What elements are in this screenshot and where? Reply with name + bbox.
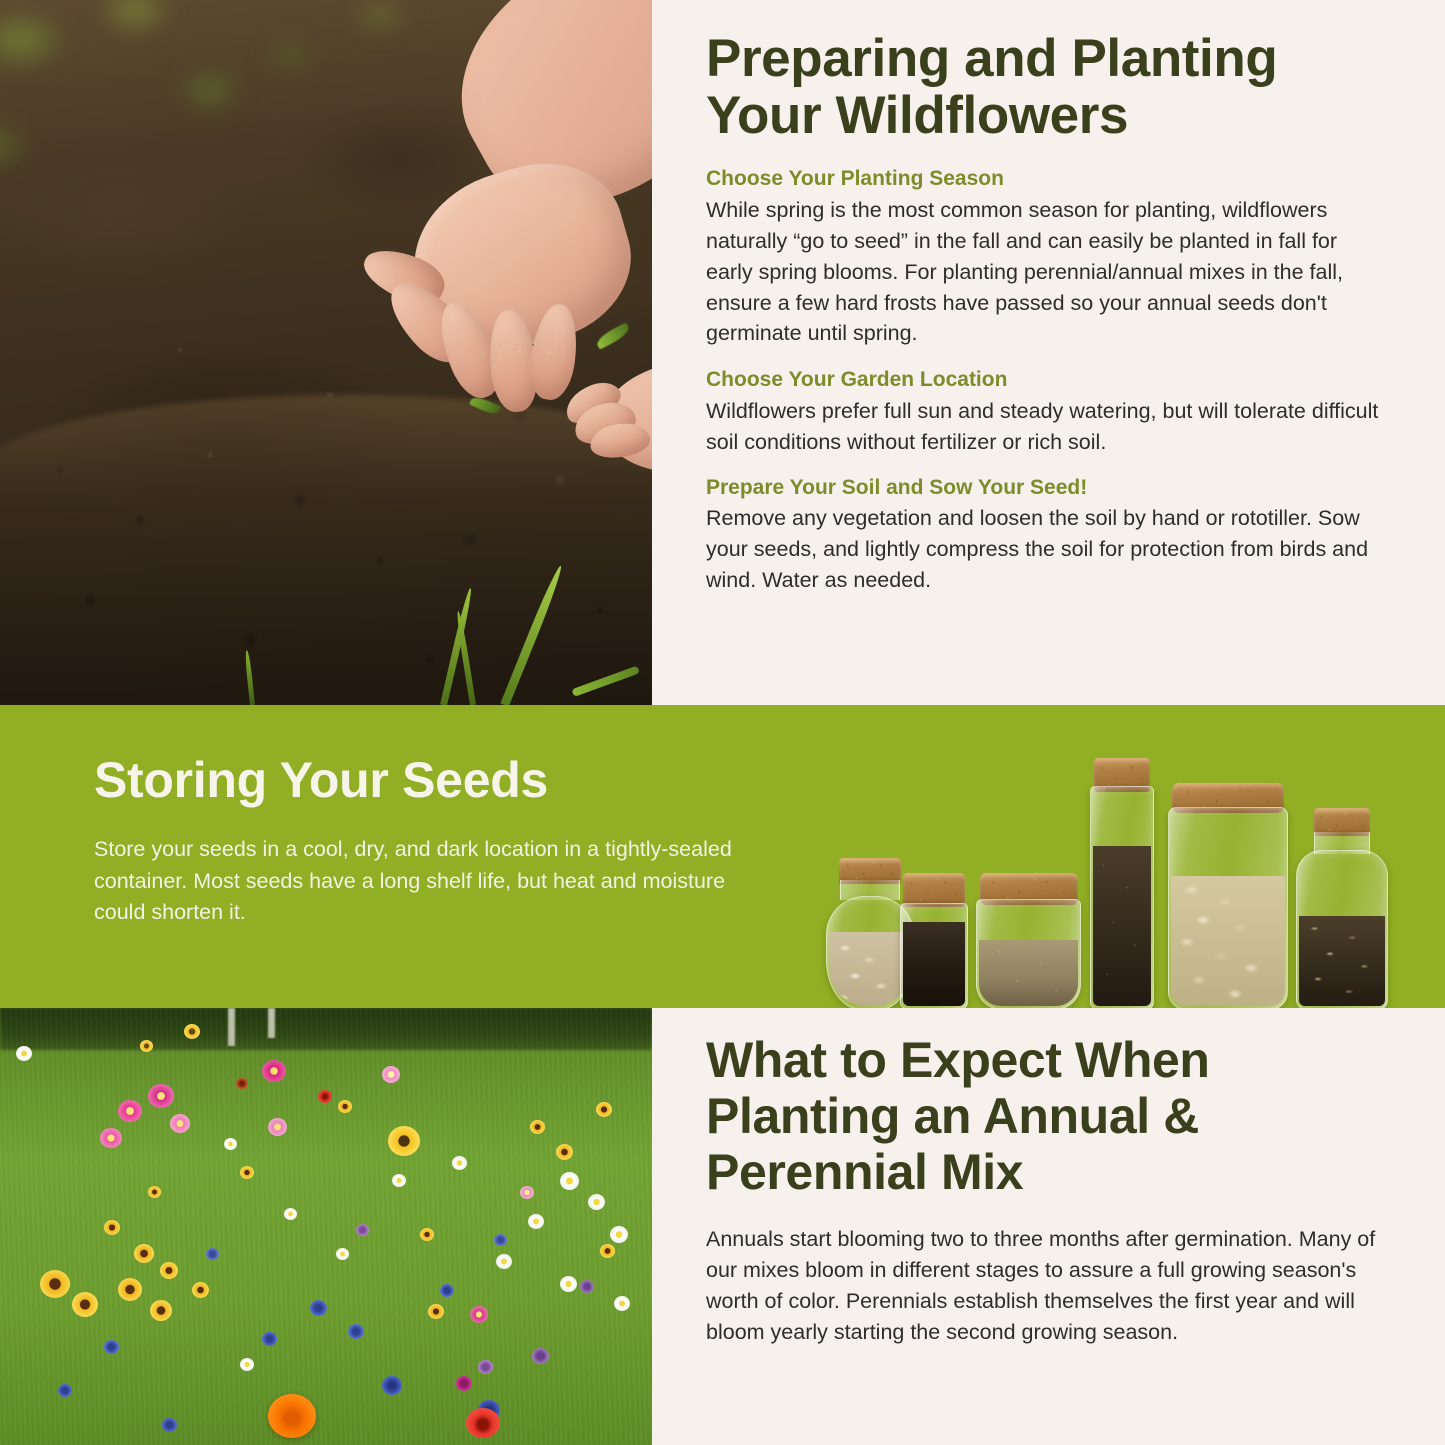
- flower-purple: [532, 1348, 549, 1364]
- flower-blue: [440, 1284, 454, 1297]
- flower-blue: [310, 1300, 327, 1316]
- flower-white: [588, 1194, 605, 1210]
- flower-white: [496, 1254, 512, 1269]
- expect-paragraph: Annuals start blooming two to three mont…: [706, 1224, 1389, 1348]
- flower-red-poppy: [466, 1408, 500, 1438]
- infographic-page: Preparing and Planting Your Wildflowers …: [0, 0, 1445, 1445]
- flower-pink: [148, 1084, 174, 1108]
- expect-title: What to Expect When Planting an Annual &…: [706, 1032, 1389, 1200]
- page-title: Preparing and Planting Your Wildflowers: [706, 30, 1389, 144]
- jar-contents-pepitas: [1171, 876, 1285, 1006]
- flower-blue: [348, 1324, 364, 1339]
- jar-contents-dark: [1093, 846, 1151, 1006]
- flower-purple: [356, 1224, 369, 1236]
- flower-yellow: [150, 1300, 172, 1321]
- flower-yellow: [596, 1102, 612, 1117]
- storing-text-block: Storing Your Seeds Store your seeds in a…: [94, 753, 734, 929]
- subheading-planting-season: Choose Your Planting Season: [706, 166, 1389, 191]
- jar-contents-black: [903, 922, 965, 1006]
- paragraph-prepare-soil: Remove any vegetation and loosen the soi…: [706, 503, 1389, 596]
- paragraph-garden-location: Wildflowers prefer full sun and steady w…: [706, 396, 1389, 458]
- flower-white: [560, 1276, 577, 1292]
- jar-black-seeds: [900, 873, 968, 1008]
- wildflower-meadow-photo: [0, 1008, 652, 1445]
- flower-yellow: [192, 1282, 209, 1298]
- flower-blue: [104, 1340, 119, 1354]
- what-to-expect-section: What to Expect When Planting an Annual &…: [0, 1008, 1445, 1445]
- flower-white: [336, 1248, 349, 1260]
- flower-yellow: [40, 1270, 70, 1298]
- flower-pink: [262, 1060, 286, 1082]
- storing-title: Storing Your Seeds: [94, 753, 734, 808]
- grass-texture: [0, 1008, 652, 1445]
- flower-blue: [382, 1376, 402, 1395]
- seed-jars-photo: [818, 723, 1418, 1008]
- flower-pink: [382, 1066, 400, 1083]
- flower-blue: [162, 1418, 177, 1432]
- flower-yellow: [104, 1220, 120, 1235]
- jar-contents-tiny: [979, 940, 1078, 1006]
- subheading-garden-location: Choose Your Garden Location: [706, 367, 1389, 392]
- flower-pink: [100, 1128, 122, 1148]
- flower-white: [452, 1156, 467, 1170]
- flower-yellow: [428, 1304, 444, 1319]
- storing-seeds-section: Storing Your Seeds Store your seeds in a…: [0, 705, 1445, 1008]
- flower-blue: [58, 1384, 72, 1397]
- flower-white: [240, 1358, 254, 1371]
- flower-blue: [262, 1332, 277, 1346]
- flower-purple: [580, 1280, 594, 1293]
- cork-lid-icon: [903, 873, 965, 907]
- flower-purple: [478, 1360, 493, 1374]
- flower-white: [614, 1296, 630, 1311]
- jar-contents-mixed: [1299, 916, 1385, 1006]
- hands-sowing-seeds-photo: [0, 0, 652, 705]
- flower-white: [16, 1046, 32, 1061]
- jar-contents-beans: [829, 932, 911, 1006]
- paragraph-planting-season: While spring is the most common season f…: [706, 195, 1389, 350]
- flower-yellow: [338, 1100, 352, 1113]
- flower-yellow: [184, 1024, 200, 1039]
- flower-white: [284, 1208, 297, 1220]
- flower-yellow: [134, 1244, 154, 1263]
- flower-pink: [118, 1100, 142, 1122]
- expect-text-column: What to Expect When Planting an Annual &…: [652, 1008, 1445, 1445]
- flower-white: [224, 1138, 237, 1150]
- flower-yellow: [530, 1120, 545, 1134]
- flower-pink: [470, 1306, 488, 1323]
- flower-white: [528, 1214, 544, 1229]
- flower-yellow: [600, 1244, 615, 1258]
- flower-white: [610, 1226, 628, 1243]
- jar-tall-dark-seeds: [1090, 758, 1154, 1008]
- jar-pumpkin-seeds: [1168, 783, 1288, 1008]
- storing-paragraph: Store your seeds in a cool, dry, and dar…: [94, 834, 734, 929]
- planting-text-column: Preparing and Planting Your Wildflowers …: [652, 0, 1445, 705]
- flower-pink: [268, 1118, 287, 1136]
- second-hand: [556, 338, 652, 488]
- flower-white: [392, 1174, 406, 1187]
- flower-yellow: [140, 1040, 153, 1052]
- jar-mixed-seeds: [1296, 808, 1388, 1008]
- subheading-prepare-soil: Prepare Your Soil and Sow Your Seed!: [706, 475, 1389, 500]
- flower-white: [560, 1172, 579, 1190]
- flower-yellow: [72, 1292, 98, 1317]
- flower-magenta: [456, 1376, 472, 1391]
- flower-pink: [170, 1114, 190, 1133]
- flower-orange-poppy: [268, 1394, 316, 1438]
- jar-tiny-seeds: [976, 873, 1081, 1008]
- flower-yellow: [148, 1186, 161, 1198]
- planting-section: Preparing and Planting Your Wildflowers …: [0, 0, 1445, 705]
- flower-yellow: [420, 1228, 434, 1241]
- flower-yellow: [556, 1144, 573, 1160]
- flower-yellow: [118, 1278, 142, 1301]
- flower-blue: [494, 1234, 507, 1246]
- flower-pink: [520, 1186, 534, 1199]
- flower-red: [236, 1078, 248, 1089]
- flower-yellow: [160, 1262, 178, 1279]
- flower-blue: [206, 1248, 219, 1260]
- flower-yellow: [388, 1126, 420, 1156]
- flower-red: [318, 1090, 332, 1103]
- flower-yellow: [240, 1166, 254, 1179]
